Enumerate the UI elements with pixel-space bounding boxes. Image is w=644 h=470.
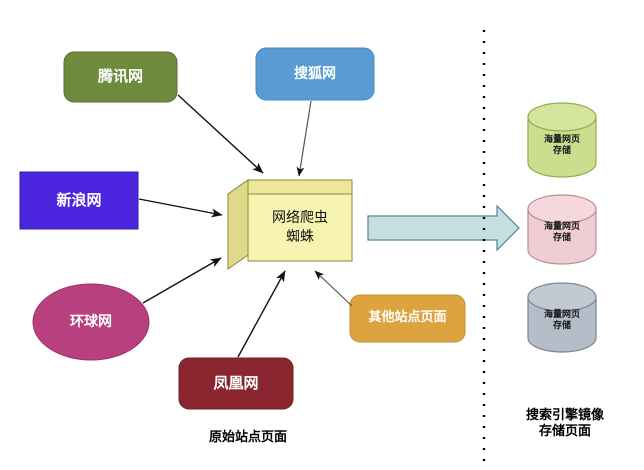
node-huanqiu-shape[interactable]: [33, 284, 149, 360]
node-fenghuang-shape[interactable]: [179, 358, 293, 409]
diagram-canvas: 腾讯网 搜狐网 新浪网 环球网 凤凰网 其他站点页面 网络爬虫 蜘蛛 海量网页 …: [0, 0, 644, 470]
node-sina-shape[interactable]: [20, 172, 138, 229]
caption-right-line2: 存储页面: [495, 424, 635, 440]
caption-right: 搜索引擎镜像 存储页面: [495, 408, 635, 441]
connector-fenghuang-to-crawler: [238, 271, 285, 357]
connector-sohu-to-crawler: [299, 101, 311, 176]
node-sohu-shape[interactable]: [256, 48, 374, 100]
crawler-box-shape[interactable]: [228, 180, 352, 269]
diagram-svg: [0, 0, 644, 470]
cylinder-store-gray-shape[interactable]: [528, 283, 596, 352]
node-tencent-shape[interactable]: [64, 52, 177, 102]
connector-othersites-to-crawler: [315, 271, 352, 306]
transfer-arrow-shape: [368, 206, 519, 250]
caption-left: 原始站点页面: [148, 430, 348, 446]
node-othersites-shape[interactable]: [350, 295, 465, 342]
caption-right-line1: 搜索引擎镜像: [495, 408, 635, 424]
cylinder-store-green-shape[interactable]: [528, 103, 596, 177]
cylinder-store-pink-shape[interactable]: [528, 195, 596, 264]
connector-sina-to-crawler: [139, 199, 222, 215]
connector-huanqiu-to-crawler: [143, 258, 221, 303]
connector-tencent-to-crawler: [178, 95, 263, 173]
